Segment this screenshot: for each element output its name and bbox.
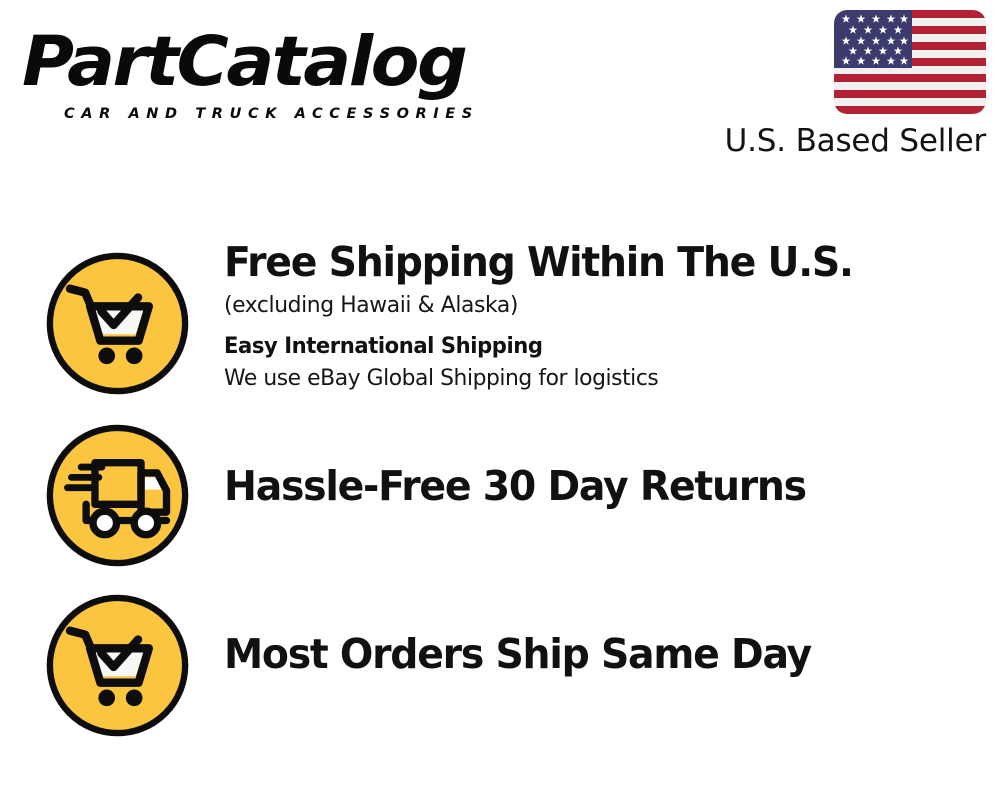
benefit-text-block: Most Orders Ship Same Day	[224, 628, 984, 680]
benefit-title: Hassle-Free 30 Day Returns	[224, 460, 954, 512]
benefit-text-block: Free Shipping Within The U.S. (excluding…	[224, 236, 984, 395]
benefit-row: Most Orders Ship Same Day	[0, 578, 1000, 754]
benefit-title: Most Orders Ship Same Day	[224, 628, 954, 680]
shopping-cart-check-icon	[44, 592, 191, 739]
benefit-text-block: Hassle-Free 30 Day Returns	[224, 460, 984, 512]
benefit-sub-note: We use eBay Global Shipping for logistic…	[224, 362, 961, 395]
benefit-title: Free Shipping Within The U.S.	[224, 236, 954, 288]
benefits-list: Free Shipping Within The U.S. (excluding…	[0, 0, 1000, 800]
delivery-truck-icon	[44, 422, 191, 569]
shopping-cart-check-icon	[44, 250, 191, 397]
benefit-sub-title: Easy International Shipping	[224, 331, 954, 362]
benefit-row: Hassle-Free 30 Day Returns	[0, 408, 1000, 584]
benefit-row: Free Shipping Within The U.S. (excluding…	[0, 236, 1000, 412]
benefit-note: (excluding Hawaii & Alaska)	[224, 288, 961, 322]
